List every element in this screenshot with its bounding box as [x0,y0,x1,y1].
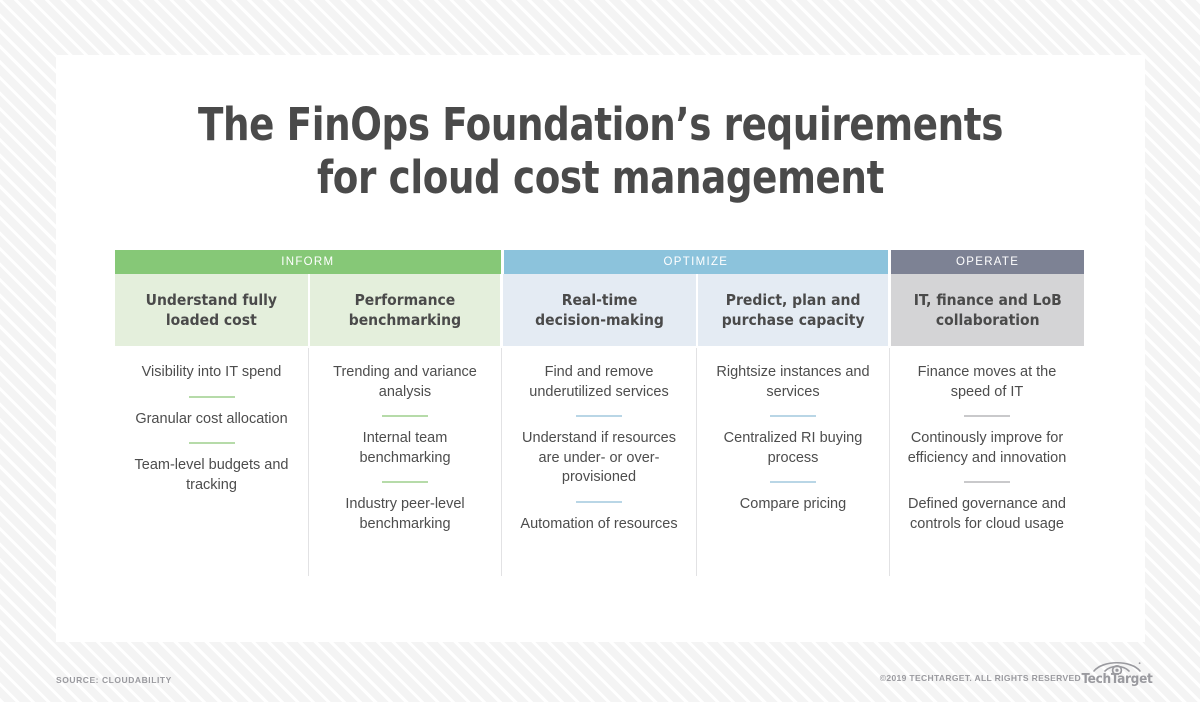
column-subhead-1-line-2: loaded cost [166,311,257,329]
column-subhead-2-line-2: benchmarking [349,311,461,329]
techtarget-logo: TechTarget [1089,658,1145,687]
list-item: Find and remove underutilized services [516,363,682,402]
item-separator [189,396,235,398]
group-band-inform-label: INFORM [281,256,334,268]
column-cell-5: Finance moves at the speed of IT Contino… [890,346,1084,578]
list-item: Rightsize instances and services [711,363,875,402]
column-subhead-5-line-2: collaboration [936,311,1040,329]
list-item: Automation of resources [520,515,677,535]
page-title-line-2: for cloud cost management [317,151,884,204]
item-separator [770,415,816,417]
copyright-notice: ©2019 TECHTARGET. ALL RIGHTS RESERVED [880,673,1081,687]
column-subhead-1-line-1: Understand fully [146,291,277,309]
table-group-header-row: INFORM OPTIMIZE OPERATE [115,250,1084,274]
column-subhead-3: Real-time decision-making [503,274,696,346]
page-title-line-1: The FinOps Foundation’s requirements [198,98,1003,151]
group-band-optimize-label: OPTIMIZE [664,256,729,268]
item-separator [964,415,1010,417]
column-cell-3: Find and remove underutilized services U… [502,346,696,578]
column-subhead-5: IT, finance and LoB collaboration [891,274,1084,346]
list-item: Compare pricing [740,495,846,515]
list-item: Team-level budgets and tracking [129,456,294,495]
list-item: Defined governance and controls for clou… [904,495,1070,534]
column-subhead-3-line-2: decision-making [535,311,664,329]
list-item: Visibility into IT spend [142,363,282,383]
item-separator [576,415,622,417]
group-band-operate: OPERATE [891,250,1084,274]
column-cell-1: Visibility into IT spend Granular cost a… [115,346,308,578]
item-separator [382,481,428,483]
table-subheader-row: Understand fully loaded cost Performance… [115,274,1084,346]
requirements-table: INFORM OPTIMIZE OPERATE Understand fully… [115,250,1084,578]
list-item: Trending and variance analysis [323,363,487,402]
group-band-operate-label: OPERATE [956,256,1019,268]
column-subhead-4: Predict, plan and purchase capacity [698,274,889,346]
column-subhead-1: Understand fully loaded cost [115,274,308,346]
column-subhead-5-line-1: IT, finance and LoB [914,291,1062,309]
column-cell-2: Trending and variance analysis Internal … [309,346,501,578]
column-subhead-3-line-1: Real-time [562,291,638,309]
column-cell-4: Rightsize instances and services Central… [697,346,889,578]
column-subhead-2: Performance benchmarking [310,274,501,346]
item-separator [964,481,1010,483]
list-item: Understand if resources are under- or ov… [516,429,682,488]
group-band-inform: INFORM [115,250,501,274]
footer-right-group: ©2019 TECHTARGET. ALL RIGHTS RESERVED Te… [880,658,1145,687]
page-title: The FinOps Foundation’s requirements for… [100,99,1102,204]
table-body-row: Visibility into IT spend Granular cost a… [115,346,1084,578]
list-item: Centralized RI buying process [711,429,875,468]
list-item: Granular cost allocation [135,410,287,430]
source-attribution: SOURCE: CLOUDABILITY [56,675,172,685]
column-subhead-4-line-1: Predict, plan and [726,291,861,309]
techtarget-wordmark: TechTarget [1081,673,1152,687]
list-item: Industry peer-level benchmarking [323,495,487,534]
column-subhead-2-line-1: Performance [355,291,456,309]
list-item: Continously improve for efficiency and i… [904,429,1070,468]
list-item: Internal team benchmarking [323,429,487,468]
infographic-card: The FinOps Foundation’s requirements for… [56,55,1145,642]
group-band-optimize: OPTIMIZE [504,250,889,274]
column-subhead-4-line-2: purchase capacity [722,311,865,329]
item-separator [382,415,428,417]
list-item: Finance moves at the speed of IT [904,363,1070,402]
item-separator [576,501,622,503]
item-separator [770,481,816,483]
item-separator [189,442,235,444]
